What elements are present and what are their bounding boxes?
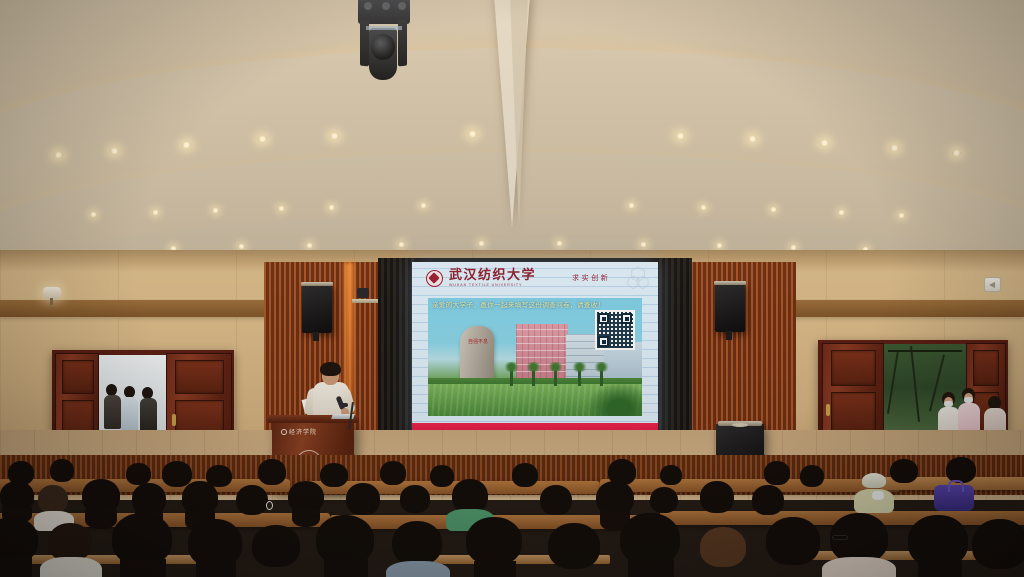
presenter-hair bbox=[320, 362, 341, 376]
hair-clip-icon bbox=[266, 501, 273, 510]
ceiling-downlight bbox=[640, 242, 647, 247]
wall-speaker-left bbox=[302, 285, 332, 333]
eyeglasses-icon bbox=[832, 535, 848, 540]
stage-curtain-left bbox=[378, 258, 414, 450]
left-door-handle[interactable] bbox=[172, 414, 176, 426]
ceiling-downlight bbox=[748, 136, 757, 142]
ceiling-downlight bbox=[420, 203, 427, 208]
lecture-hall-photo: 武汉纺织大学 WUHAN TEXTILE UNIVERSITY 求实创新 亲爱的… bbox=[0, 0, 1024, 577]
ceiling-downlight bbox=[278, 206, 285, 211]
campus-palm-tree bbox=[532, 368, 535, 386]
slide-banner-text: 亲爱的大学子，邀你一起来填写这份调查问卷，请查收！ bbox=[432, 301, 637, 310]
ceiling-downlight bbox=[468, 131, 477, 137]
presenter-watch bbox=[341, 403, 348, 407]
ceiling-downlight bbox=[328, 205, 335, 210]
ceiling-downlight bbox=[898, 213, 905, 218]
ceiling-downlight bbox=[890, 145, 899, 151]
university-motto: 求实创新 bbox=[572, 273, 610, 283]
wall-sconce-arm bbox=[50, 298, 53, 305]
ceiling-downlight bbox=[770, 207, 777, 212]
ceiling-downlight bbox=[330, 133, 339, 139]
lectern-label-text: 经济学院 bbox=[289, 427, 317, 436]
speaker-mount-right bbox=[726, 331, 732, 340]
ceiling-downlight bbox=[676, 133, 685, 139]
monument-inscription: 自强不息 bbox=[468, 338, 488, 346]
camera-shelf bbox=[352, 299, 378, 303]
bench-row bbox=[600, 479, 900, 492]
ceiling-downlight bbox=[182, 142, 191, 148]
stage-curtain-right bbox=[656, 258, 692, 450]
campus-palm-tree bbox=[554, 368, 557, 386]
qr-code-icon[interactable] bbox=[595, 310, 635, 350]
ceiling-downlight bbox=[478, 241, 485, 246]
camera-icon bbox=[357, 288, 369, 298]
slide-header: 武汉纺织大学 WUHAN TEXTILE UNIVERSITY 求实创新 bbox=[412, 262, 658, 294]
ceiling-downlight bbox=[716, 243, 723, 248]
university-name-cn: 武汉纺织大学 bbox=[449, 269, 536, 282]
ceiling-center-beam-highlight bbox=[510, 0, 528, 228]
moving-head-light-icon bbox=[352, 0, 416, 82]
ceiling-downlight bbox=[700, 205, 707, 210]
ceiling-downlight bbox=[628, 203, 635, 208]
ceiling-downlight bbox=[238, 244, 245, 249]
ceiling-downlight bbox=[306, 243, 313, 248]
speaker-mount-left bbox=[313, 332, 319, 341]
lectern-nameplate: 经济学院 bbox=[281, 427, 317, 436]
wall-sensor-icon bbox=[984, 277, 1001, 292]
ceiling-downlight bbox=[838, 210, 845, 215]
wall-speaker-right bbox=[715, 284, 745, 332]
ceiling-downlight bbox=[398, 242, 405, 247]
face-mask-icon bbox=[872, 491, 884, 500]
university-name: 武汉纺织大学 WUHAN TEXTILE UNIVERSITY bbox=[449, 269, 536, 288]
ceiling-downlight bbox=[90, 212, 97, 217]
right-door-handle[interactable] bbox=[826, 404, 830, 416]
hexagon-watermark-icon bbox=[627, 266, 649, 290]
campus-building-pink bbox=[516, 324, 568, 386]
ceiling-downlight bbox=[556, 241, 563, 246]
ceiling-downlight bbox=[152, 210, 159, 215]
backpack-icon bbox=[934, 485, 974, 511]
projection-screen: 武汉纺织大学 WUHAN TEXTILE UNIVERSITY 求实创新 亲爱的… bbox=[412, 262, 658, 440]
desk-row bbox=[0, 555, 220, 564]
slide-campus-photo: 亲爱的大学子，邀你一起来填写这份调查问卷，请查收！ 自强不息 bbox=[428, 298, 642, 416]
campus-shrub bbox=[586, 382, 642, 416]
university-logo-icon bbox=[426, 270, 443, 287]
ceiling-downlight bbox=[820, 140, 829, 146]
audience-person-hat bbox=[862, 473, 886, 488]
ceiling-downlight bbox=[54, 152, 63, 158]
campus-palm-tree bbox=[510, 368, 513, 386]
school-emblem-icon bbox=[281, 429, 287, 435]
ceiling-downlight bbox=[952, 150, 961, 156]
ceiling-downlight bbox=[110, 148, 119, 154]
audience-area bbox=[0, 455, 1024, 577]
ceiling-downlight bbox=[212, 208, 219, 213]
campus-palm-tree bbox=[578, 368, 581, 386]
ceiling-downlight bbox=[258, 136, 267, 142]
